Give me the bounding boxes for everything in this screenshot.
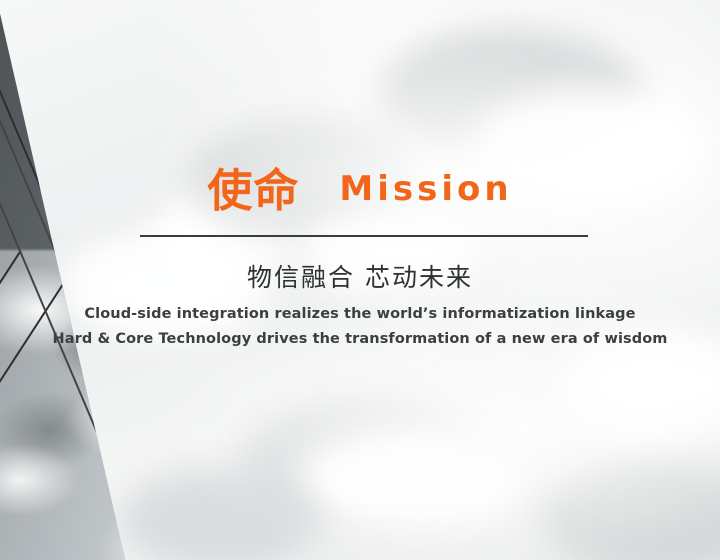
title-english: Mission xyxy=(339,172,512,206)
banner-content: 使命Mission 物信融合 芯动未来 Cloud-side integrati… xyxy=(0,0,720,560)
description-block: Cloud-side integration realizes the worl… xyxy=(0,302,720,352)
subtitle-chinese: 物信融合 芯动未来 xyxy=(0,258,720,294)
banner-title: 使命Mission xyxy=(0,168,720,213)
title-divider xyxy=(140,235,588,237)
title-chinese: 使命 xyxy=(207,168,299,213)
mission-banner: 使命Mission 物信融合 芯动未来 Cloud-side integrati… xyxy=(0,0,720,560)
description-line-2: Hard & Core Technology drives the transf… xyxy=(0,327,720,352)
description-line-1: Cloud-side integration realizes the worl… xyxy=(0,302,720,327)
